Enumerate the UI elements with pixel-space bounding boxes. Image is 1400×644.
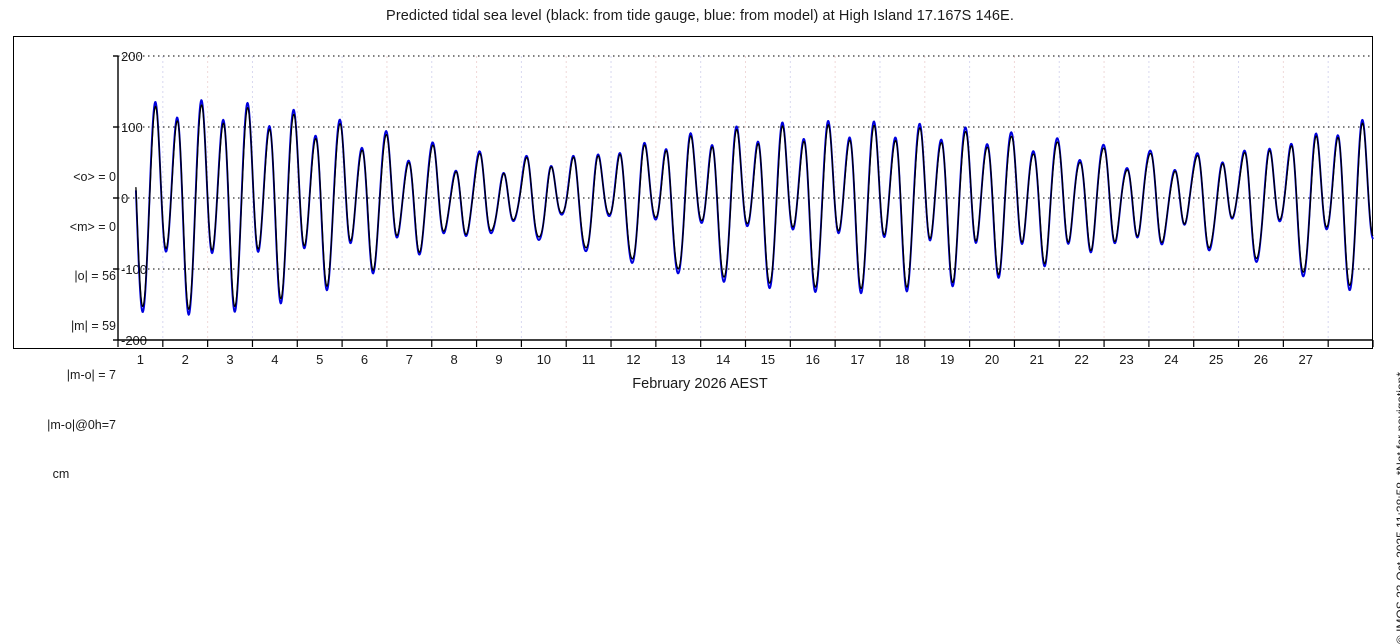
svg-text:9: 9 (495, 352, 502, 367)
stat-abs-observed: |o| = 56 (20, 268, 116, 285)
x-axis-title: February 2026 AEST (0, 376, 1400, 392)
copyright-notice: © IMOS 23-Oct-2025 11:38:58. *Not for na… (1379, 0, 1400, 400)
tide-chart: -200-10001002001234567891011121314151617… (0, 0, 1400, 400)
stat-unit: cm (20, 466, 116, 483)
svg-text:20: 20 (985, 352, 999, 367)
stat-abs-model: |m| = 59 (20, 318, 116, 335)
svg-text:12: 12 (626, 352, 640, 367)
statistics-block: <o> = 0 <m> = 0 |o| = 56 |m| = 59 |m-o| … (20, 136, 116, 516)
svg-text:6: 6 (361, 352, 368, 367)
svg-text:27: 27 (1299, 352, 1313, 367)
svg-text:8: 8 (451, 352, 458, 367)
copyright-text: © IMOS 23-Oct-2025 11:38:58. *Not for na… (1394, 372, 1400, 644)
svg-text:3: 3 (226, 352, 233, 367)
svg-text:17: 17 (850, 352, 864, 367)
svg-text:22: 22 (1074, 352, 1088, 367)
svg-text:16: 16 (805, 352, 819, 367)
svg-text:18: 18 (895, 352, 909, 367)
svg-text:14: 14 (716, 352, 730, 367)
svg-text:5: 5 (316, 352, 323, 367)
stat-mean-model: <m> = 0 (20, 219, 116, 236)
svg-text:10: 10 (537, 352, 551, 367)
svg-text:2: 2 (182, 352, 189, 367)
svg-text:23: 23 (1119, 352, 1133, 367)
svg-text:4: 4 (271, 352, 278, 367)
svg-text:19: 19 (940, 352, 954, 367)
svg-text:21: 21 (1030, 352, 1044, 367)
svg-text:100: 100 (121, 120, 143, 135)
svg-text:24: 24 (1164, 352, 1178, 367)
svg-text:15: 15 (761, 352, 775, 367)
stat-abs-difference-0h: |m-o|@0h=7 (20, 417, 116, 434)
svg-text:-100: -100 (121, 262, 147, 277)
stat-mean-observed: <o> = 0 (20, 169, 116, 186)
svg-text:1: 1 (137, 352, 144, 367)
svg-text:11: 11 (582, 352, 596, 367)
svg-text:26: 26 (1254, 352, 1268, 367)
svg-text:25: 25 (1209, 352, 1223, 367)
svg-text:13: 13 (671, 352, 685, 367)
tide-plot-page: Predicted tidal sea level (black: from t… (0, 0, 1400, 400)
svg-text:200: 200 (121, 49, 143, 64)
svg-text:7: 7 (406, 352, 413, 367)
svg-text:0: 0 (121, 191, 128, 206)
